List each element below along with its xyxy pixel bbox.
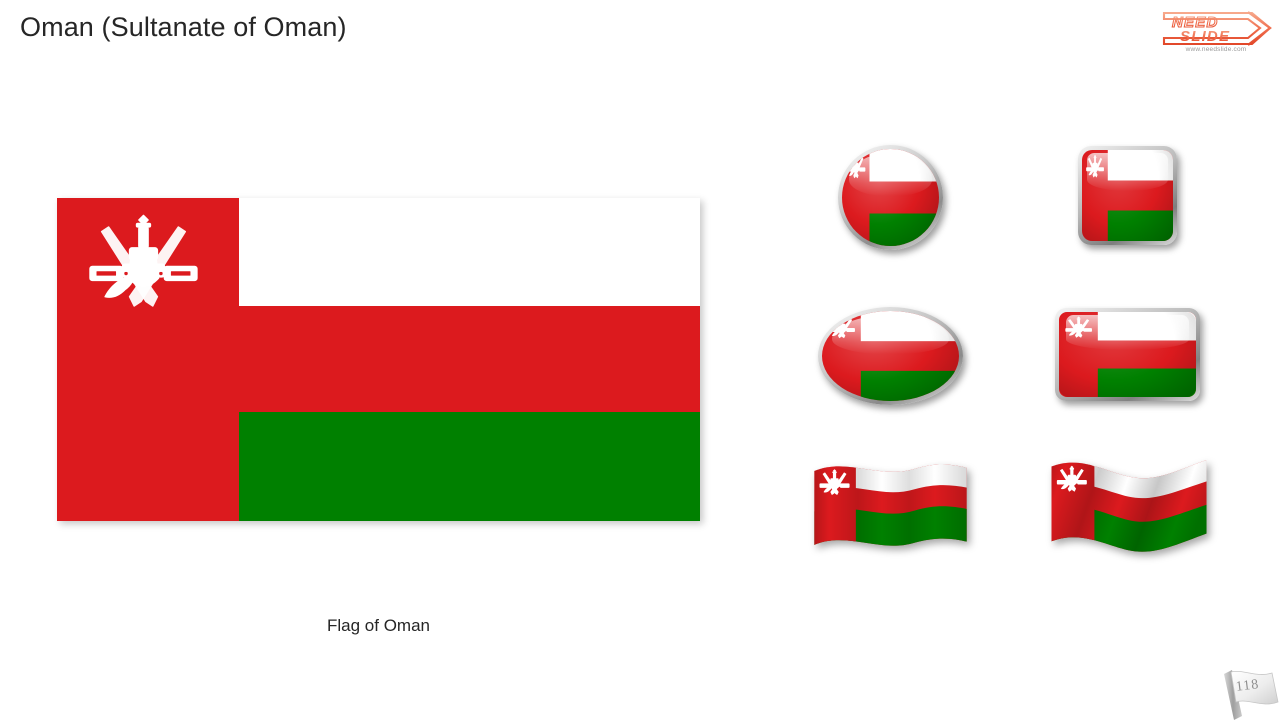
flag-stripe-white [239, 198, 700, 306]
flag-caption: Flag of Oman [0, 616, 757, 636]
waving-flag-icon-strong[interactable] [1046, 452, 1211, 572]
svg-text:SLIDE: SLIDE [1180, 28, 1230, 45]
square-flag-face [1082, 150, 1173, 241]
khanjar-and-crossed-swords-emblem [84, 213, 203, 329]
brand-url: www.needslide.com [1162, 46, 1270, 53]
ellipse-flag-face [822, 311, 959, 401]
flag-face [57, 198, 700, 521]
page-number: 118 [1235, 677, 1260, 696]
main-flag-image [57, 198, 700, 521]
slide-canvas: Oman (Sultanate of Oman) NEED SLIDE www.… [0, 0, 1280, 720]
circle-flag-face [842, 149, 939, 246]
rect-flag-face [1059, 312, 1196, 397]
flag-stripe-green [239, 412, 700, 521]
rounded-square-flag-icon[interactable] [1078, 146, 1177, 245]
circle-flag-icon[interactable] [838, 145, 943, 250]
page-title: Oman (Sultanate of Oman) [20, 12, 347, 43]
waving-flag-icon[interactable] [810, 455, 970, 570]
ellipse-flag-icon[interactable] [818, 307, 963, 405]
rounded-rectangle-flag-icon[interactable] [1055, 308, 1200, 401]
